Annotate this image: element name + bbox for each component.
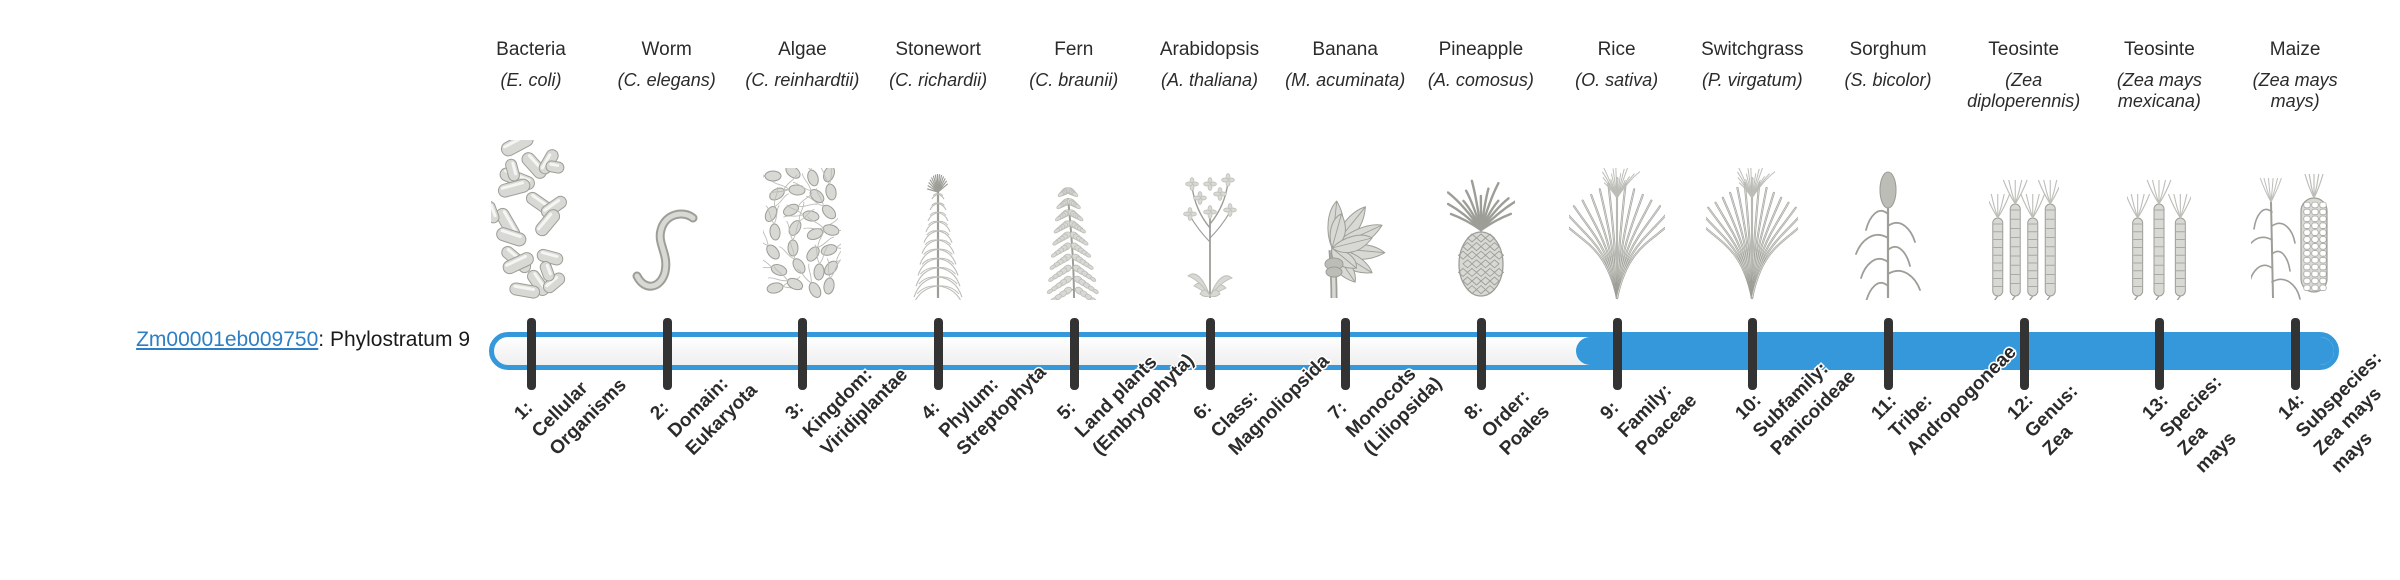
species-scientific-name: (Zea mays mays) [2227, 70, 2363, 112]
species-common-name: Switchgrass [1684, 38, 1820, 61]
tick-mark-10 [1748, 318, 1757, 390]
species-common-name: Sorghum [1820, 38, 1956, 61]
species-scientific-name: (S. bicolor) [1820, 70, 1956, 91]
bacteria-illustration [463, 168, 599, 300]
tick-mark-8 [1477, 318, 1486, 390]
algae-illustration [734, 168, 870, 300]
rice-illustration [1549, 168, 1685, 300]
gene-phylostratum-label: Zm00001eb009750: Phylostratum 9 [0, 327, 470, 353]
species-common-name: Teosinte [2091, 38, 2227, 61]
banana-illustration [1277, 168, 1413, 300]
taxonomy-label-12: 12:Genus:Zea [1956, 404, 2092, 580]
species-common-name: Pineapple [1413, 38, 1549, 61]
teosinte-mexicana-illustration [2091, 168, 2227, 300]
gene-id-link[interactable]: Zm00001eb009750 [136, 328, 318, 351]
tick-mark-2 [663, 318, 672, 390]
species-scientific-name: (P. virgatum) [1684, 70, 1820, 91]
species-common-name: Bacteria [463, 38, 599, 61]
taxonomy-label-8: 8:Order:Poales [1413, 404, 1549, 580]
teosinte-diploperennis-illustration [1956, 168, 2092, 300]
pineapple-illustration [1413, 168, 1549, 300]
species-scientific-name: (C. richardii) [870, 70, 1006, 91]
tick-mark-6 [1206, 318, 1215, 390]
species-common-name: Stonewort [870, 38, 1006, 61]
tick-mark-5 [1070, 318, 1079, 390]
tick-mark-12 [2020, 318, 2029, 390]
species-scientific-name: (A. thaliana) [1142, 70, 1278, 91]
taxonomy-label-9: 9:Family:Poaceae [1549, 404, 1685, 580]
worm-illustration [599, 168, 735, 300]
phylostratigraphy-figure: Zm00001eb009750: Phylostratum 9 Bacteria… [0, 0, 2400, 580]
tick-mark-14 [2291, 318, 2300, 390]
species-scientific-name: (O. sativa) [1549, 70, 1685, 91]
taxonomy-label-1: 1:CellularOrganisms [463, 404, 599, 580]
tick-mark-4 [934, 318, 943, 390]
switchgrass-illustration [1684, 168, 1820, 300]
species-common-name: Arabidopsis [1142, 38, 1278, 61]
species-common-name: Banana [1277, 38, 1413, 61]
species-common-name: Fern [1006, 38, 1142, 61]
species-scientific-name: (C. reinhardtii) [734, 70, 870, 91]
stonewort-illustration [870, 168, 1006, 300]
taxonomy-label-5: 5:Land plants(Embryophyta) [1006, 404, 1142, 580]
arabidopsis-illustration [1142, 168, 1278, 300]
species-scientific-name: (M. acuminata) [1277, 70, 1413, 91]
species-scientific-name: (C. elegans) [599, 70, 735, 91]
species-scientific-name: (A. comosus) [1413, 70, 1549, 91]
maize-illustration [2227, 168, 2363, 300]
species-common-name: Algae [734, 38, 870, 61]
taxonomy-label-7: 7:Monocots(Liliopsida) [1277, 404, 1413, 580]
species-scientific-name: (Zea mays mexicana) [2091, 70, 2227, 112]
taxonomy-label-14: 14:Subspecies:Zea maysmays [2227, 404, 2363, 580]
taxonomy-label-3: 3:Kingdom:Viridiplantae [734, 404, 870, 580]
tick-mark-1 [527, 318, 536, 390]
tick-mark-9 [1613, 318, 1622, 390]
tick-mark-11 [1884, 318, 1893, 390]
species-scientific-name: (Zea diploperennis) [1956, 70, 2092, 112]
taxonomy-label-10: 10:Subfamily:Panicoideae [1684, 404, 1820, 580]
species-scientific-name: (C. braunii) [1006, 70, 1142, 91]
species-common-name: Teosinte [1956, 38, 2092, 61]
tick-mark-7 [1341, 318, 1350, 390]
species-common-name: Rice [1549, 38, 1685, 61]
fern-illustration [1006, 168, 1142, 300]
gene-separator: : [318, 328, 330, 351]
sorghum-illustration [1820, 168, 1956, 300]
taxonomy-label-11: 11:Tribe:Andropogoneae [1820, 404, 1956, 580]
taxonomy-label-2: 2:Domain:Eukaryota [599, 404, 735, 580]
species-common-name: Maize [2227, 38, 2363, 61]
phylostratum-value: Phylostratum 9 [330, 328, 470, 351]
tick-mark-13 [2155, 318, 2164, 390]
taxonomy-label-6: 6:Class:Magnoliopsida [1142, 404, 1278, 580]
taxonomy-label-13: 13:Species:Zeamays [2091, 404, 2227, 580]
species-scientific-name: (E. coli) [463, 70, 599, 91]
taxonomy-label-4: 4:Phylum:Streptophyta [870, 404, 1006, 580]
species-common-name: Worm [599, 38, 735, 61]
tick-mark-3 [798, 318, 807, 390]
